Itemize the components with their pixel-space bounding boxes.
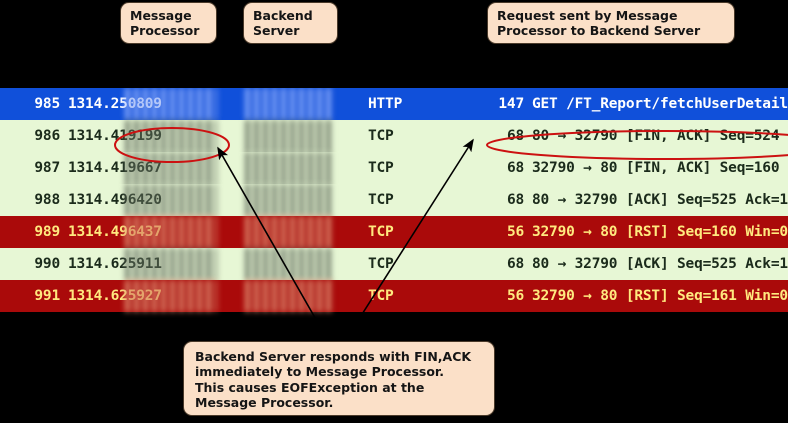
packet-destination-ip: [245, 152, 333, 184]
packet-info: 80 → 32790 [FIN, ACK] Seq=524 Ack=81 Win…: [532, 120, 788, 152]
packet-list-table[interactable]: 9851314.250809HTTP147GET /FT_Report/fetc…: [0, 88, 788, 318]
packet-info: 80 → 32790 [ACK] Seq=525 Ack=160 Win=268…: [532, 184, 788, 216]
blurred-ip-redaction: [245, 280, 333, 312]
blurred-ip-redaction: [245, 88, 333, 120]
packet-info: 32790 → 80 [RST] Seq=160 Win=0 Len=0: [532, 216, 788, 248]
packet-number: 986: [10, 120, 60, 152]
packet-info: 80 → 32790 [ACK] Seq=525 Ack=161 Win=268…: [532, 248, 788, 280]
callout-backend-server: Backend Server: [243, 2, 338, 44]
packet-protocol: HTTP: [368, 88, 402, 120]
table-row[interactable]: 9891314.496437TCP5632790 → 80 [RST] Seq=…: [0, 216, 788, 248]
packet-destination-ip: [245, 184, 333, 216]
packet-source-ip: [125, 88, 217, 120]
packet-info: GET /FT_Report/fetchUserDetails/ARN-0262…: [532, 88, 788, 120]
table-row[interactable]: 9901314.625911TCP6880 → 32790 [ACK] Seq=…: [0, 248, 788, 280]
packet-number: 989: [10, 216, 60, 248]
packet-destination-ip: [245, 248, 333, 280]
table-row[interactable]: 9911314.625927TCP5632790 → 80 [RST] Seq=…: [0, 280, 788, 312]
packet-info: 32790 → 80 [RST] Seq=161 Win=0 Len=0: [532, 280, 788, 312]
packet-destination-ip: [245, 120, 333, 152]
packet-source-ip: [125, 280, 217, 312]
blurred-ip-redaction: [245, 248, 333, 280]
packet-length: 68: [492, 152, 524, 184]
packet-destination-ip: [245, 88, 333, 120]
packet-protocol: TCP: [368, 120, 394, 152]
callout-message-processor: Message Processor: [120, 2, 217, 44]
packet-length: 68: [492, 120, 524, 152]
packet-number: 990: [10, 248, 60, 280]
packet-source-ip: [125, 184, 217, 216]
blurred-ip-redaction: [125, 184, 217, 216]
packet-number: 987: [10, 152, 60, 184]
screenshot-root: 9851314.250809HTTP147GET /FT_Report/fetc…: [0, 0, 788, 423]
callout-request-sent: Request sent by Message Processor to Bac…: [487, 2, 735, 44]
blurred-ip-redaction: [125, 120, 217, 152]
blurred-ip-redaction: [245, 216, 333, 248]
packet-destination-ip: [245, 216, 333, 248]
blurred-ip-redaction: [245, 184, 333, 216]
packet-source-ip: [125, 120, 217, 152]
packet-protocol: TCP: [368, 280, 394, 312]
table-row[interactable]: 9861314.419199TCP6880 → 32790 [FIN, ACK]…: [0, 120, 788, 152]
packet-number: 991: [10, 280, 60, 312]
packet-length: 68: [492, 184, 524, 216]
blurred-ip-redaction: [245, 120, 333, 152]
table-row[interactable]: 9881314.496420TCP6880 → 32790 [ACK] Seq=…: [0, 184, 788, 216]
packet-protocol: TCP: [368, 248, 394, 280]
packet-source-ip: [125, 152, 217, 184]
packet-length: 147: [492, 88, 524, 120]
packet-length: 68: [492, 248, 524, 280]
packet-source-ip: [125, 248, 217, 280]
packet-destination-ip: [245, 280, 333, 312]
packet-source-ip: [125, 216, 217, 248]
packet-length: 56: [492, 216, 524, 248]
packet-protocol: TCP: [368, 152, 394, 184]
blurred-ip-redaction: [245, 152, 333, 184]
blurred-ip-redaction: [125, 88, 217, 120]
packet-protocol: TCP: [368, 184, 394, 216]
table-row[interactable]: 9851314.250809HTTP147GET /FT_Report/fetc…: [0, 88, 788, 120]
packet-number: 988: [10, 184, 60, 216]
table-row[interactable]: 9871314.419667TCP6832790 → 80 [FIN, ACK]…: [0, 152, 788, 184]
packet-protocol: TCP: [368, 216, 394, 248]
blurred-ip-redaction: [125, 216, 217, 248]
blurred-ip-redaction: [125, 280, 217, 312]
blurred-ip-redaction: [125, 248, 217, 280]
callout-fin-ack-explanation: Backend Server responds with FIN,ACK imm…: [183, 341, 495, 416]
packet-info: 32790 → 80 [FIN, ACK] Seq=160 Ack=525 Wi…: [532, 152, 788, 184]
blurred-ip-redaction: [125, 152, 217, 184]
packet-length: 56: [492, 280, 524, 312]
packet-number: 985: [10, 88, 60, 120]
